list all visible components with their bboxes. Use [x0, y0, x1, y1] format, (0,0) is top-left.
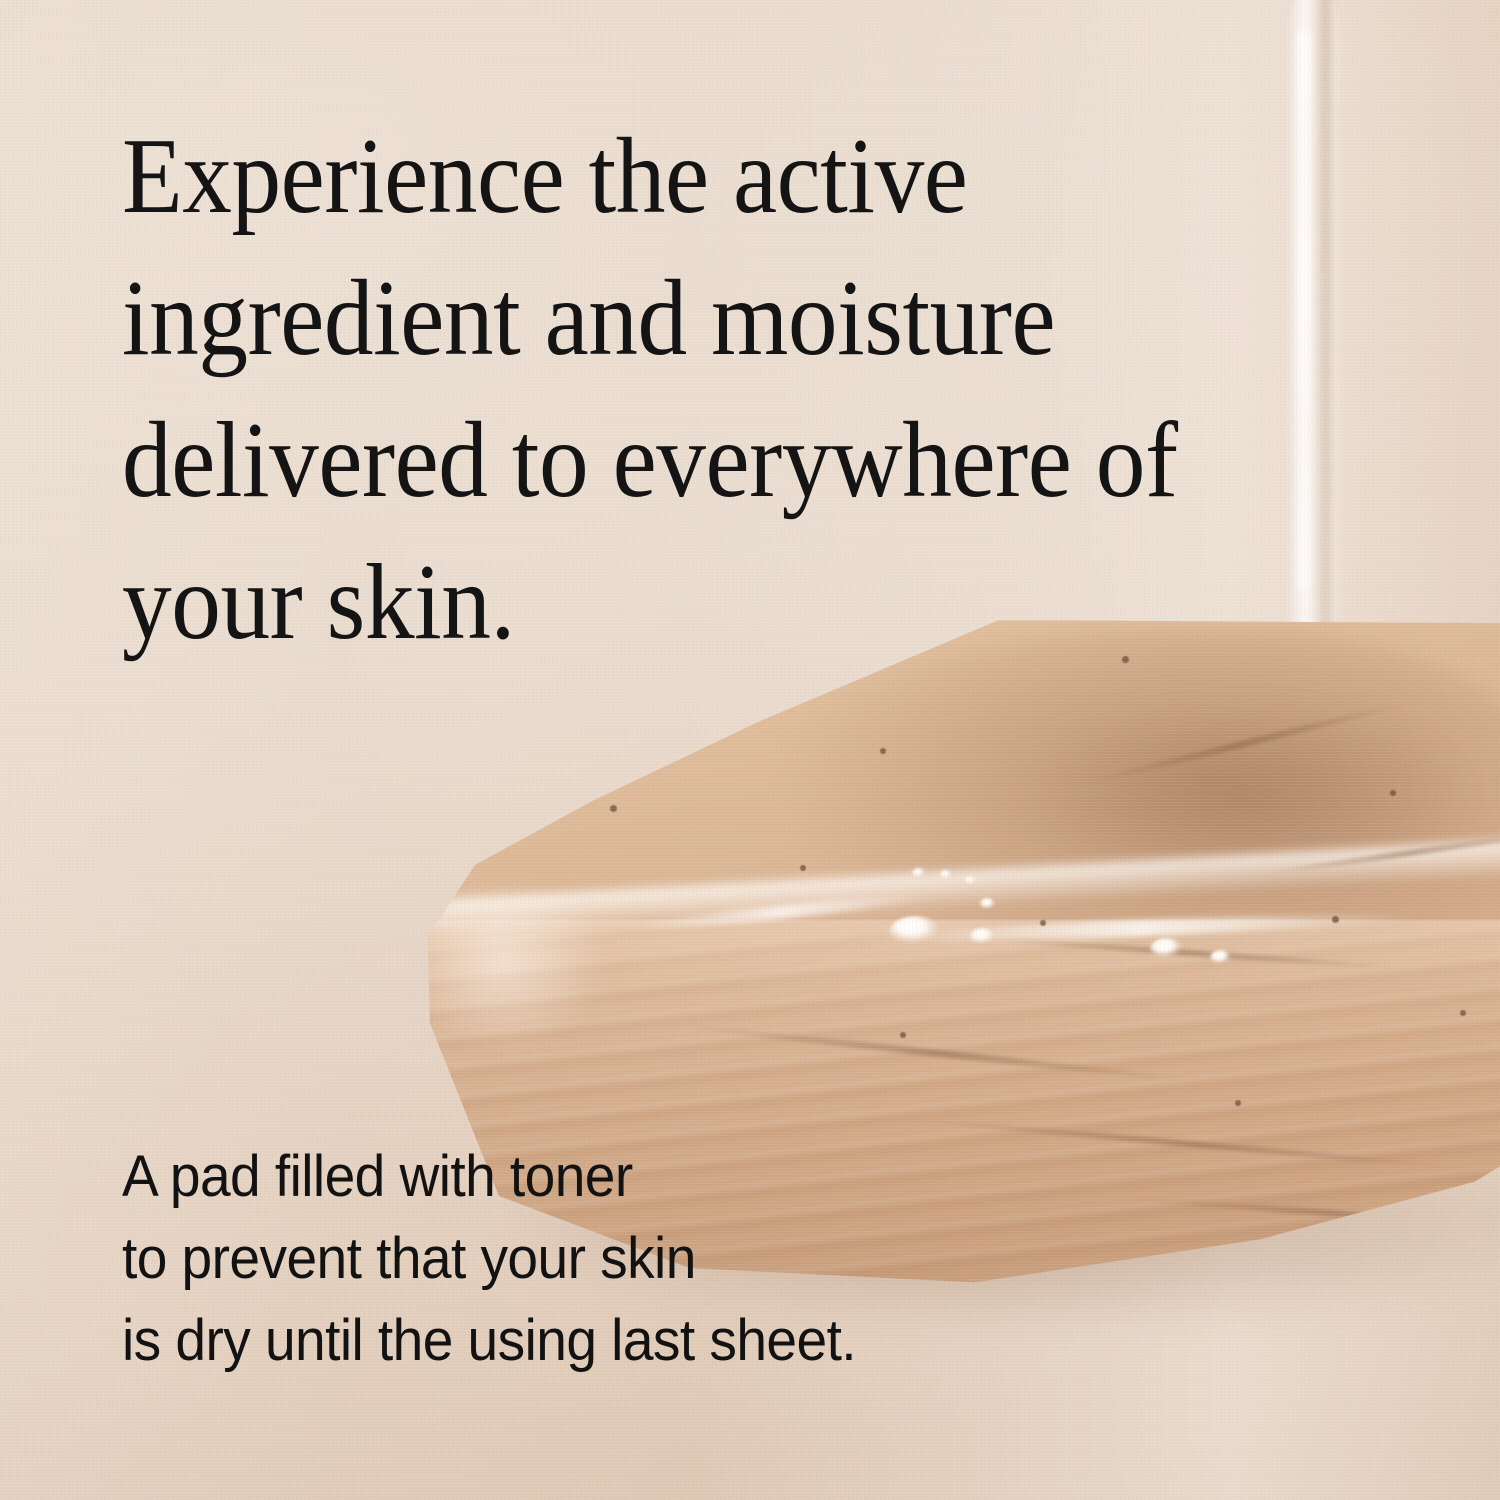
- ad-canvas: Experience the active ingredient and moi…: [0, 0, 1500, 1500]
- headline-text: Experience the active ingredient and moi…: [122, 106, 1189, 674]
- subcopy-text: A pad filled with toner to prevent that …: [122, 1136, 1120, 1382]
